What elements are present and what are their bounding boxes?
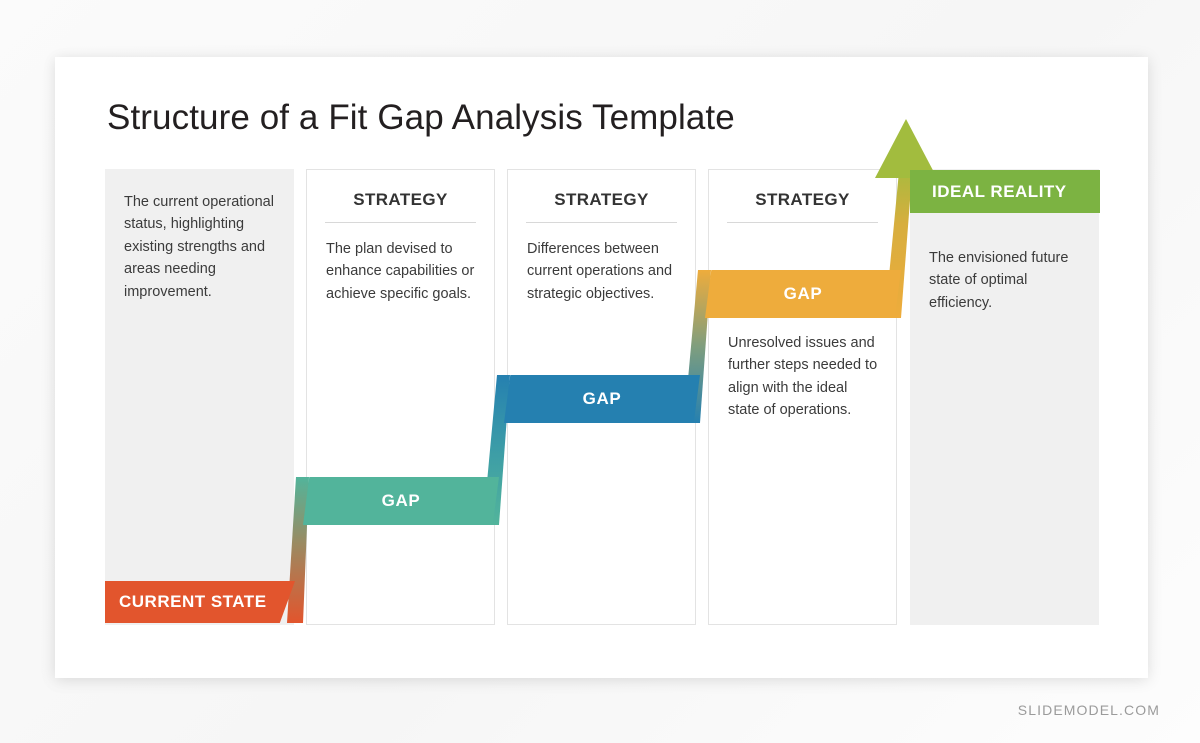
gap-bar-2[interactable]: GAP xyxy=(504,375,700,423)
footer-watermark: SLIDEMODEL.COM xyxy=(1018,702,1160,718)
current-state-banner[interactable]: CURRENT STATE xyxy=(105,581,295,623)
fit-gap-diagram: The current operational status, highligh… xyxy=(55,57,1148,678)
slide-canvas: Structure of a Fit Gap Analysis Template… xyxy=(0,0,1200,743)
gap-bar-3-label: GAP xyxy=(784,284,823,304)
gap-bar-2-label: GAP xyxy=(583,389,622,409)
connector-current-to-gap1 xyxy=(287,477,309,623)
gap-bar-1[interactable]: GAP xyxy=(303,477,499,525)
ideal-reality-banner[interactable]: IDEAL REALITY xyxy=(910,170,1100,213)
gap-bar-3[interactable]: GAP xyxy=(705,270,901,318)
current-state-banner-label: CURRENT STATE xyxy=(119,592,267,612)
gap-bar-1-label: GAP xyxy=(382,491,421,511)
ideal-reality-banner-label: IDEAL REALITY xyxy=(932,182,1067,202)
slide-card: Structure of a Fit Gap Analysis Template… xyxy=(55,57,1148,678)
